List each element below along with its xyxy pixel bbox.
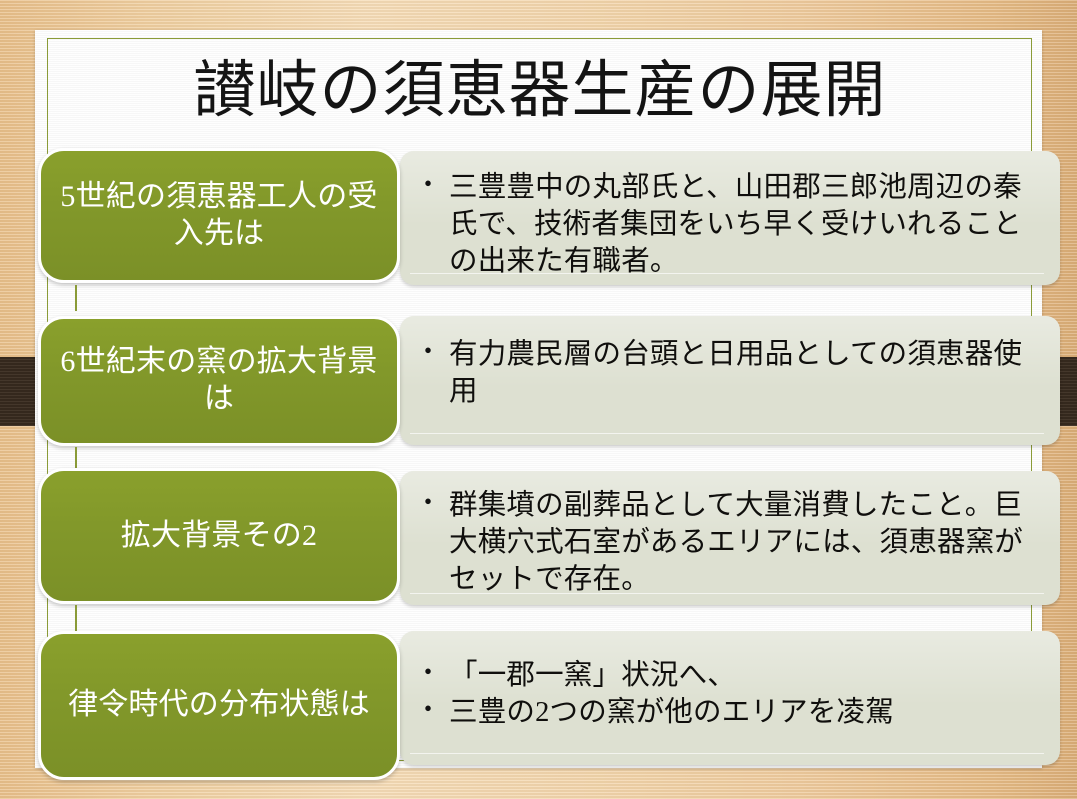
label-box-1[interactable]: 5世紀の須恵器工人の受入先は bbox=[38, 148, 400, 283]
content-box-2: 有力農民層の台頭と日用品としての須恵器使用 bbox=[400, 316, 1060, 445]
label-box-4-text: 律令時代の分布状態は bbox=[68, 687, 370, 724]
bullet-list-2: 有力農民層の台頭と日用品としての須恵器使用 bbox=[412, 336, 1026, 410]
list-item: 三豊豊中の丸部氏と、山田郡三郎池周辺の秦氏で、技術者集団をいち早く受けいれること… bbox=[412, 169, 1026, 280]
bullet-list-3: 群集墳の副葬品として大量消費したこと。巨大横穴式石室があるエリアには、須恵器窯が… bbox=[412, 487, 1026, 598]
content-box-1: 三豊豊中の丸部氏と、山田郡三郎池周辺の秦氏で、技術者集団をいち早く受けいれること… bbox=[400, 151, 1060, 285]
label-box-3-text: 拡大背景その2 bbox=[121, 518, 317, 555]
list-item: 群集墳の副葬品として大量消費したこと。巨大横穴式石室があるエリアには、須恵器窯が… bbox=[412, 487, 1026, 598]
label-box-3[interactable]: 拡大背景その2 bbox=[38, 468, 400, 604]
bullet-list-4: 「一郡一窯」状況へ、 三豊の2つの窯が他のエリアを凌駕 bbox=[412, 657, 1026, 731]
list-item: 「一郡一窯」状況へ、 bbox=[412, 657, 1026, 694]
connector-3 bbox=[75, 605, 77, 631]
decorative-band-left bbox=[0, 357, 36, 426]
label-box-4[interactable]: 律令時代の分布状態は bbox=[38, 631, 400, 780]
content-box-3: 群集墳の副葬品として大量消費したこと。巨大横穴式石室があるエリアには、須恵器窯が… bbox=[400, 471, 1060, 605]
connector-1 bbox=[75, 285, 77, 311]
label-box-1-text: 5世紀の須恵器工人の受入先は bbox=[57, 179, 381, 252]
bullet-list-1: 三豊豊中の丸部氏と、山田郡三郎池周辺の秦氏で、技術者集団をいち早く受けいれること… bbox=[412, 169, 1026, 280]
list-item: 三豊の2つの窯が他のエリアを凌駕 bbox=[412, 694, 1026, 731]
label-box-2[interactable]: 6世紀末の窯の拡大背景は bbox=[38, 316, 400, 446]
slide-title: 讃岐の須恵器生産の展開 bbox=[60, 44, 1020, 136]
presentation-slide: 讃岐の須恵器生産の展開 三豊豊中の丸部氏と、山田郡三郎池周辺の秦氏で、技術者集団… bbox=[0, 0, 1077, 799]
list-item: 有力農民層の台頭と日用品としての須恵器使用 bbox=[412, 336, 1026, 410]
content-box-4: 「一郡一窯」状況へ、 三豊の2つの窯が他のエリアを凌駕 bbox=[400, 631, 1060, 765]
label-box-2-text: 6世紀末の窯の拡大背景は bbox=[57, 344, 381, 417]
